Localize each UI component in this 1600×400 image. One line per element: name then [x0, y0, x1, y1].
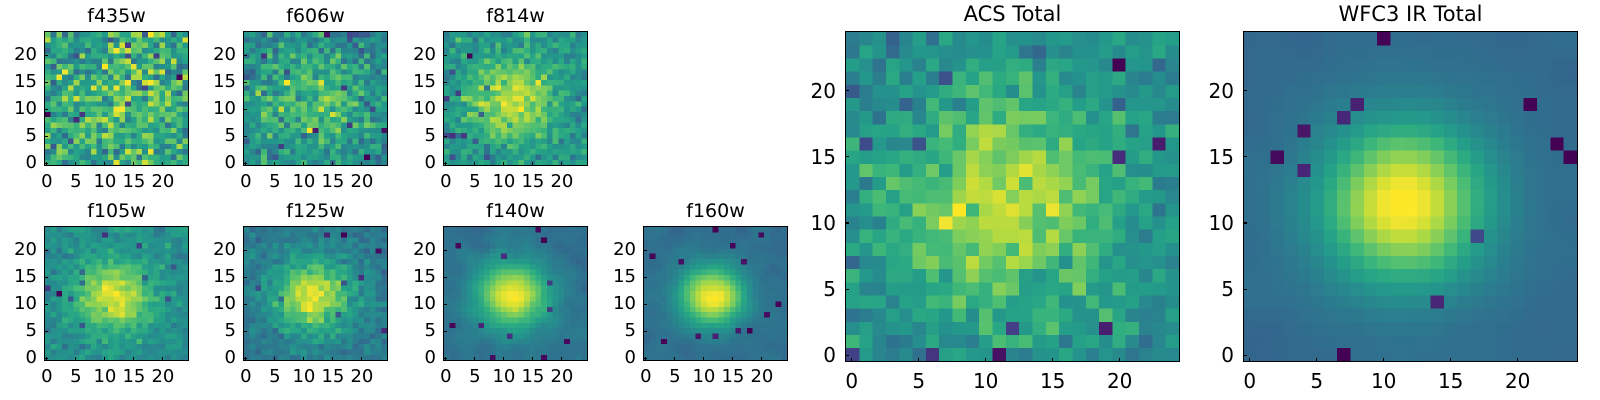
xtick-mark	[532, 357, 533, 361]
ytick-mark	[44, 55, 48, 56]
xtick-label: 20	[133, 368, 193, 386]
xtick-label: 20	[133, 173, 193, 191]
xtick-mark	[274, 162, 275, 166]
ytick-mark	[44, 136, 48, 137]
ytick-mark	[643, 331, 647, 332]
ytick-mark	[443, 277, 447, 278]
ytick-label: 0	[363, 154, 436, 172]
ytick-mark	[44, 109, 48, 110]
ytick-mark	[44, 163, 48, 164]
ytick-label: 10	[765, 213, 836, 233]
ytick-label: 0	[0, 154, 37, 172]
ytick-mark	[845, 289, 849, 290]
xtick-label: 20	[332, 368, 392, 386]
ytick-label: 0	[163, 349, 236, 367]
heatmap-image	[1244, 32, 1577, 361]
ytick-label: 5	[163, 322, 236, 340]
ytick-label: 0	[765, 345, 836, 365]
ytick-mark	[845, 156, 849, 157]
ytick-mark	[1243, 156, 1247, 157]
ytick-label: 5	[563, 322, 636, 340]
ytick-mark	[845, 90, 849, 91]
xtick-mark	[703, 357, 704, 361]
panel-title-wfc3-ir-total: WFC3 IR Total	[1243, 4, 1578, 25]
ytick-label: 20	[163, 241, 236, 259]
heatmap-image	[846, 32, 1179, 361]
ytick-mark	[443, 55, 447, 56]
panel-acs-total: ACS Total0510152005101520	[765, 0, 1180, 371]
xtick-mark	[75, 162, 76, 166]
ytick-label: 0	[1163, 345, 1234, 365]
ytick-mark	[243, 277, 247, 278]
ytick-label: 20	[563, 241, 636, 259]
ytick-label: 20	[363, 241, 436, 259]
xtick-label: 15	[1023, 371, 1083, 391]
ytick-label: 15	[163, 268, 236, 286]
ytick-label: 0	[563, 349, 636, 367]
ytick-label: 15	[0, 268, 37, 286]
xtick-mark	[732, 357, 733, 361]
xtick-mark	[1249, 358, 1250, 362]
panel-f105w: f105w0510152005101520	[0, 195, 189, 370]
ytick-mark	[1243, 355, 1247, 356]
xtick-mark	[851, 358, 852, 362]
ytick-label: 10	[0, 100, 37, 118]
ytick-mark	[643, 304, 647, 305]
ytick-mark	[243, 82, 247, 83]
xtick-mark	[303, 357, 304, 361]
xtick-label: 20	[1488, 371, 1548, 391]
ytick-label: 10	[163, 100, 236, 118]
ytick-mark	[1243, 90, 1247, 91]
axes-f814w	[443, 31, 588, 166]
xtick-mark	[1119, 358, 1120, 362]
ytick-mark	[243, 250, 247, 251]
ytick-label: 0	[0, 349, 37, 367]
ytick-label: 5	[363, 127, 436, 145]
xtick-mark	[1517, 358, 1518, 362]
xtick-label: 0	[822, 371, 882, 391]
xtick-mark	[503, 357, 504, 361]
ytick-mark	[443, 304, 447, 305]
ytick-label: 15	[765, 147, 836, 167]
ytick-mark	[845, 222, 849, 223]
xtick-label: 20	[532, 368, 592, 386]
ytick-label: 10	[563, 295, 636, 313]
ytick-mark	[243, 109, 247, 110]
ytick-mark	[243, 331, 247, 332]
ytick-mark	[44, 250, 48, 251]
xtick-mark	[474, 357, 475, 361]
ytick-label: 20	[163, 46, 236, 64]
xtick-label: 10	[1354, 371, 1414, 391]
ytick-mark	[243, 136, 247, 137]
panel-title-f814w: f814w	[443, 7, 588, 26]
ytick-label: 0	[163, 154, 236, 172]
ytick-label: 15	[563, 268, 636, 286]
xtick-mark	[1450, 358, 1451, 362]
ytick-label: 15	[0, 73, 37, 91]
panel-title-acs-total: ACS Total	[845, 4, 1180, 25]
xtick-mark	[1316, 358, 1317, 362]
ytick-label: 20	[0, 46, 37, 64]
xtick-mark	[985, 358, 986, 362]
ytick-label: 10	[363, 100, 436, 118]
ytick-mark	[443, 163, 447, 164]
ytick-mark	[1243, 222, 1247, 223]
ytick-mark	[44, 304, 48, 305]
ytick-mark	[44, 358, 48, 359]
xtick-mark	[474, 162, 475, 166]
ytick-label: 5	[1163, 279, 1234, 299]
ytick-mark	[643, 358, 647, 359]
ytick-mark	[443, 250, 447, 251]
xtick-label: 20	[332, 173, 392, 191]
xtick-mark	[561, 162, 562, 166]
heatmap-image	[444, 32, 587, 165]
axes-wfc3-ir-total	[1243, 31, 1578, 362]
xtick-mark	[274, 357, 275, 361]
xtick-mark	[133, 162, 134, 166]
panel-f140w: f140w0510152005101520	[363, 195, 588, 370]
ytick-mark	[643, 250, 647, 251]
xtick-mark	[503, 162, 504, 166]
ytick-label: 20	[0, 241, 37, 259]
panel-f814w: f814w0510152005101520	[363, 0, 588, 175]
xtick-label: 15	[1421, 371, 1481, 391]
ytick-label: 0	[363, 349, 436, 367]
ytick-mark	[443, 358, 447, 359]
xtick-mark	[532, 162, 533, 166]
ytick-mark	[443, 82, 447, 83]
panel-f606w: f606w0510152005101520	[163, 0, 388, 175]
xtick-mark	[332, 162, 333, 166]
ytick-mark	[643, 277, 647, 278]
xtick-mark	[918, 358, 919, 362]
xtick-mark	[1383, 358, 1384, 362]
panel-f125w: f125w0510152005101520	[163, 195, 388, 370]
xtick-label: 5	[1287, 371, 1347, 391]
ytick-label: 15	[363, 73, 436, 91]
ytick-label: 20	[363, 46, 436, 64]
ytick-mark	[845, 355, 849, 356]
panel-f435w: f435w0510152005101520	[0, 0, 189, 175]
xtick-label: 10	[956, 371, 1016, 391]
ytick-label: 5	[163, 127, 236, 145]
xtick-label: 0	[1220, 371, 1280, 391]
xtick-label: 20	[1090, 371, 1150, 391]
ytick-label: 20	[765, 81, 836, 101]
ytick-label: 5	[765, 279, 836, 299]
ytick-mark	[243, 304, 247, 305]
ytick-mark	[443, 331, 447, 332]
ytick-label: 5	[0, 322, 37, 340]
ytick-label: 20	[1163, 81, 1234, 101]
ytick-label: 5	[0, 127, 37, 145]
panel-wfc3-ir-total: WFC3 IR Total0510152005101520	[1163, 0, 1578, 371]
ytick-label: 15	[163, 73, 236, 91]
xtick-label: 20	[532, 173, 592, 191]
xtick-mark	[104, 357, 105, 361]
ytick-mark	[443, 109, 447, 110]
ytick-label: 5	[363, 322, 436, 340]
xtick-mark	[303, 162, 304, 166]
ytick-mark	[243, 163, 247, 164]
xtick-mark	[75, 357, 76, 361]
xtick-mark	[133, 357, 134, 361]
ytick-mark	[44, 277, 48, 278]
ytick-mark	[443, 136, 447, 137]
ytick-label: 15	[363, 268, 436, 286]
ytick-label: 15	[1163, 147, 1234, 167]
figure-canvas: f435w0510152005101520f606w05101520051015…	[0, 0, 1600, 400]
panel-f160w: f160w0510152005101520	[563, 195, 788, 370]
xtick-mark	[332, 357, 333, 361]
xtick-mark	[761, 357, 762, 361]
ytick-mark	[1243, 289, 1247, 290]
ytick-mark	[44, 82, 48, 83]
xtick-label: 5	[889, 371, 949, 391]
ytick-mark	[44, 331, 48, 332]
axes-acs-total	[845, 31, 1180, 362]
ytick-label: 10	[0, 295, 37, 313]
xtick-mark	[104, 162, 105, 166]
xtick-mark	[674, 357, 675, 361]
ytick-mark	[243, 358, 247, 359]
ytick-label: 10	[363, 295, 436, 313]
ytick-label: 10	[163, 295, 236, 313]
xtick-mark	[1052, 358, 1053, 362]
ytick-label: 10	[1163, 213, 1234, 233]
ytick-mark	[243, 55, 247, 56]
